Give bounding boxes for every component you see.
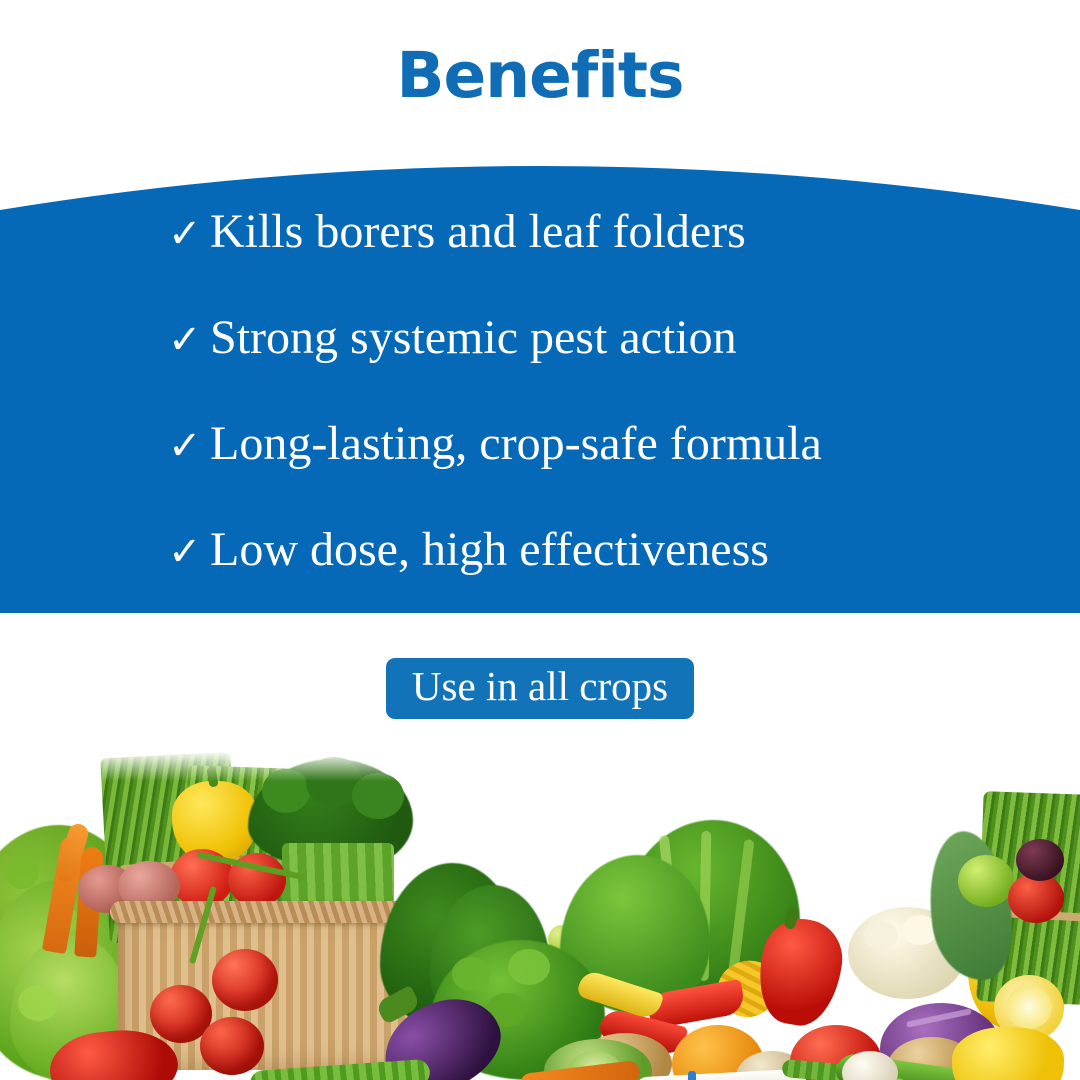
lettuce-texture-c	[18, 985, 58, 1021]
plum-dark	[1016, 839, 1064, 881]
badge-row: Use in all crops	[0, 658, 1080, 719]
check-icon: ✓	[168, 426, 210, 466]
produce-photo	[0, 735, 1080, 1080]
page-title: Benefits	[397, 44, 684, 107]
title-area: Benefits	[0, 0, 1080, 150]
yellow-pepper-top	[172, 781, 258, 861]
parsley-tuft-a	[452, 957, 490, 991]
check-icon: ✓	[168, 214, 210, 254]
tomato-front-1	[212, 949, 278, 1011]
benefits-list: ✓ Kills borers and leaf folders ✓ Strong…	[0, 130, 1080, 613]
green-apple	[958, 855, 1014, 907]
yellow-pepper-foreground	[952, 1027, 1064, 1080]
parsley-tuft-b	[508, 949, 550, 985]
status-badge: Use in all crops	[386, 658, 694, 719]
list-item: ✓ Strong systemic pest action	[168, 314, 1080, 420]
lettuce-texture-a	[5, 855, 39, 889]
list-item: ✓ Kills borers and leaf folders	[168, 208, 1080, 314]
benefit-label: Low dose, high effectiveness	[210, 526, 769, 574]
photo-top-fade	[0, 735, 1080, 781]
benefit-label: Long-lasting, crop-safe formula	[210, 420, 822, 468]
list-item: ✓ Low dose, high effectiveness	[168, 526, 1080, 632]
leek-band	[688, 1071, 696, 1080]
lemon-half-right-pith	[1006, 985, 1052, 1029]
benefit-label: Strong systemic pest action	[210, 314, 737, 362]
check-icon: ✓	[168, 320, 210, 360]
benefit-label: Kills borers and leaf folders	[210, 208, 746, 256]
tomato-front-3	[200, 1017, 264, 1075]
list-item: ✓ Long-lasting, crop-safe formula	[168, 420, 1080, 526]
cauliflower-bud-a	[864, 921, 898, 949]
check-icon: ✓	[168, 532, 210, 572]
